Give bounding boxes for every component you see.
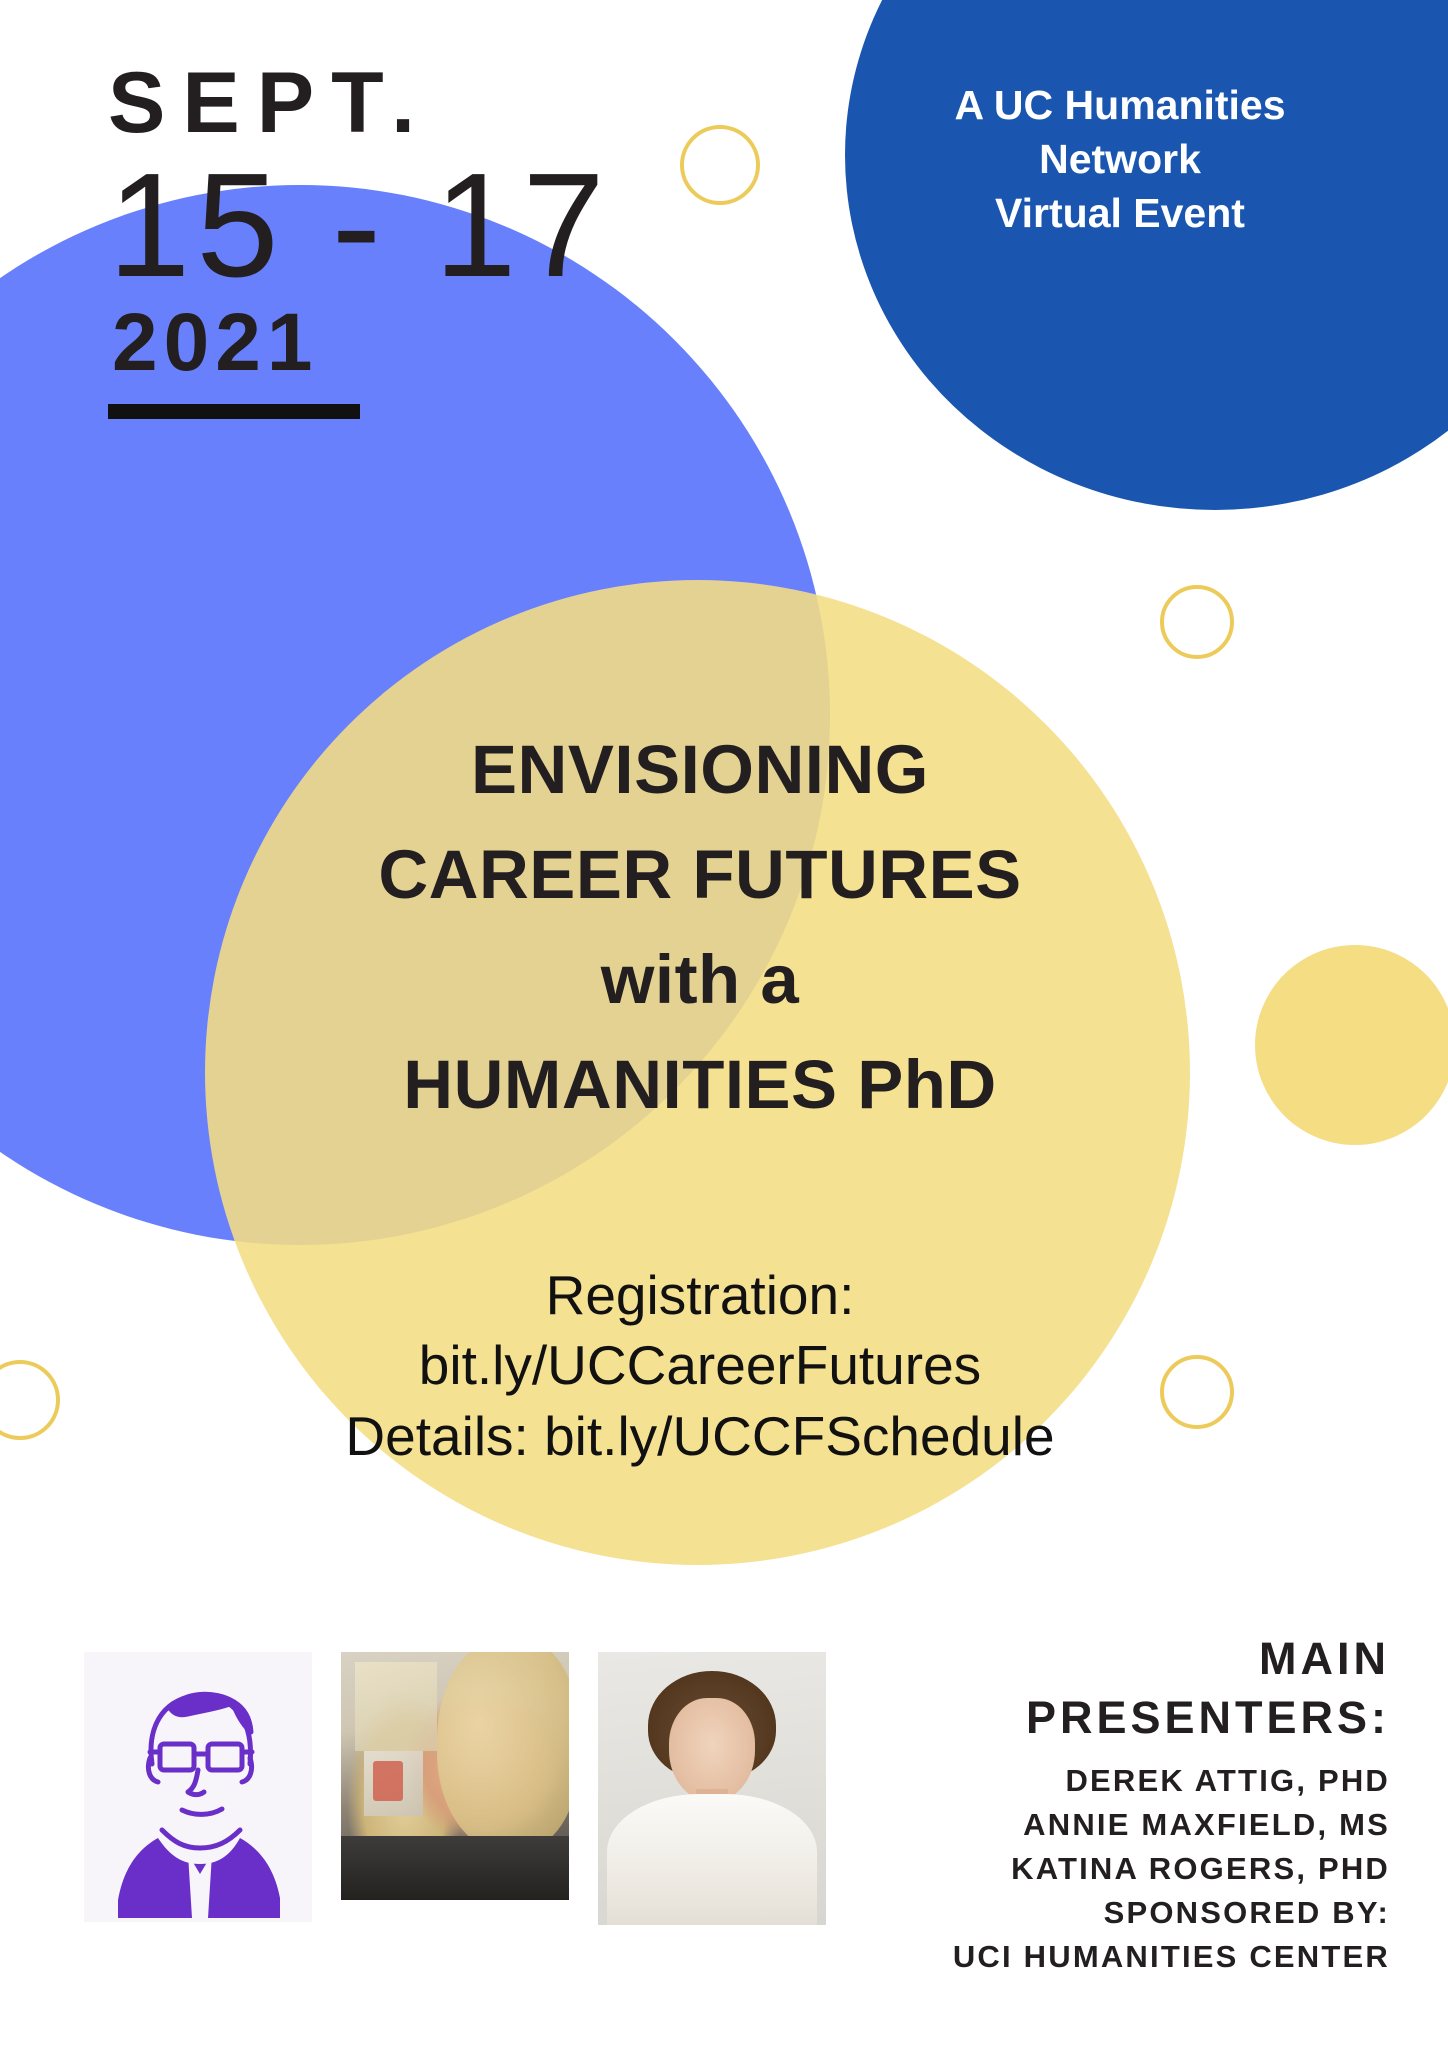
presenters-block: MAIN PRESENTERS: DEREK ATTIG, PHD ANNIE … bbox=[830, 1630, 1390, 1979]
presenter-portraits bbox=[84, 1652, 826, 1925]
gold-ring-outline-icon bbox=[0, 1360, 60, 1440]
event-date-block: SEPT. 15 - 17 2021 bbox=[108, 60, 611, 419]
hair-shape bbox=[437, 1652, 569, 1850]
page-title: ENVISIONING CAREER FUTURES with a HUMANI… bbox=[180, 718, 1220, 1138]
presenters-heading-line-2: PRESENTERS: bbox=[830, 1689, 1390, 1748]
title-line-4: HUMANITIES PhD bbox=[180, 1033, 1220, 1138]
title-line-2: CAREER FUTURES bbox=[180, 823, 1220, 928]
event-type-badge: A UC Humanities Network Virtual Event bbox=[860, 78, 1380, 240]
title-line-3: with a bbox=[180, 928, 1220, 1033]
date-month: SEPT. bbox=[108, 60, 611, 146]
presenter-name-2: ANNIE MAXFIELD, MS bbox=[830, 1803, 1390, 1847]
gold-ring-outline-icon bbox=[1160, 585, 1234, 659]
badge-line-2: Network bbox=[860, 132, 1380, 186]
registration-link[interactable]: bit.ly/UCCareerFutures bbox=[180, 1330, 1220, 1400]
presenters-heading: MAIN PRESENTERS: bbox=[830, 1630, 1390, 1747]
portrait-derek-attig bbox=[84, 1652, 312, 1922]
sponsor-label: SPONSORED BY: bbox=[830, 1891, 1390, 1935]
badge-line-1: A UC Humanities bbox=[860, 78, 1380, 132]
face-shape bbox=[669, 1698, 756, 1802]
badge-line-3: Virtual Event bbox=[860, 186, 1380, 240]
date-underline-rule bbox=[108, 404, 360, 419]
yellow-small-circle-shape bbox=[1255, 945, 1448, 1145]
dark-top-shape bbox=[341, 1836, 569, 1900]
marker-sketch-portrait-icon bbox=[84, 1652, 312, 1922]
red-object-detail bbox=[373, 1761, 403, 1801]
navy-circle-shape bbox=[845, 0, 1448, 510]
details-schedule-link[interactable]: Details: bit.ly/UCCFSchedule bbox=[180, 1401, 1220, 1471]
date-days: 15 - 17 bbox=[108, 152, 611, 300]
gold-ring-outline-icon bbox=[680, 125, 760, 205]
registration-info: Registration: bit.ly/UCCareerFutures Det… bbox=[180, 1260, 1220, 1471]
presenter-name-1: DEREK ATTIG, PHD bbox=[830, 1759, 1390, 1803]
window-background-detail bbox=[355, 1662, 437, 1751]
date-year: 2021 bbox=[112, 302, 611, 384]
presenter-name-3: KATINA ROGERS, PHD bbox=[830, 1847, 1390, 1891]
portrait-katina-rogers bbox=[598, 1652, 826, 1925]
title-line-1: ENVISIONING bbox=[180, 718, 1220, 823]
portrait-annie-maxfield bbox=[341, 1652, 569, 1900]
white-shirt-shape bbox=[607, 1794, 817, 1925]
sponsor-name: UCI HUMANITIES CENTER bbox=[830, 1935, 1390, 1979]
presenters-name-list: DEREK ATTIG, PHD ANNIE MAXFIELD, MS KATI… bbox=[830, 1759, 1390, 1979]
registration-label: Registration: bbox=[180, 1260, 1220, 1330]
presenters-heading-line-1: MAIN bbox=[830, 1630, 1390, 1689]
event-poster: SEPT. 15 - 17 2021 A UC Humanities Netwo… bbox=[0, 0, 1448, 2048]
